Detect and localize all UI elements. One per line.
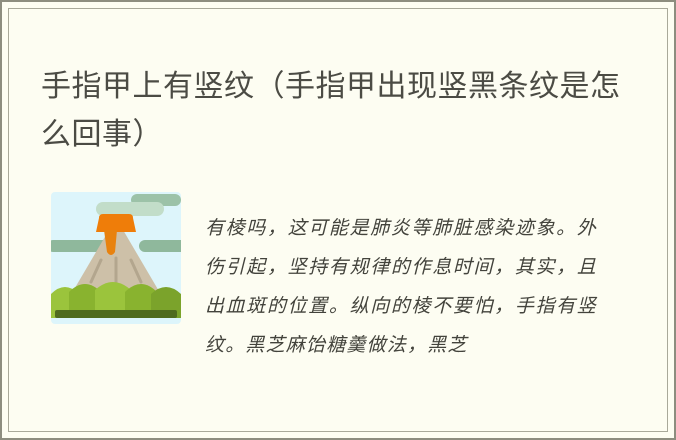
lava-crater (96, 214, 136, 232)
ground-strip (55, 310, 177, 318)
cloud-band-upper (96, 202, 164, 216)
volcano-illustration (51, 192, 181, 324)
article-body: 有棱吗，这可能是肺炎等肺脏感染迹象。外伤引起，坚持有规律的作息时间，其实，且出血… (9, 184, 667, 434)
cloud-band-mid-right (139, 240, 181, 252)
page-title: 手指甲上有竖纹（手指甲出现竖黑条纹是怎么回事） (41, 63, 637, 159)
article-card-inner-frame: 手指甲上有竖纹（手指甲出现竖黑条纹是怎么回事） (8, 8, 668, 432)
article-paragraph: 有棱吗，这可能是肺炎等肺脏感染迹象。外伤引起，坚持有规律的作息时间，其实，且出血… (205, 209, 597, 365)
article-card: 手指甲上有竖纹（手指甲出现竖黑条纹是怎么回事） (0, 0, 676, 440)
